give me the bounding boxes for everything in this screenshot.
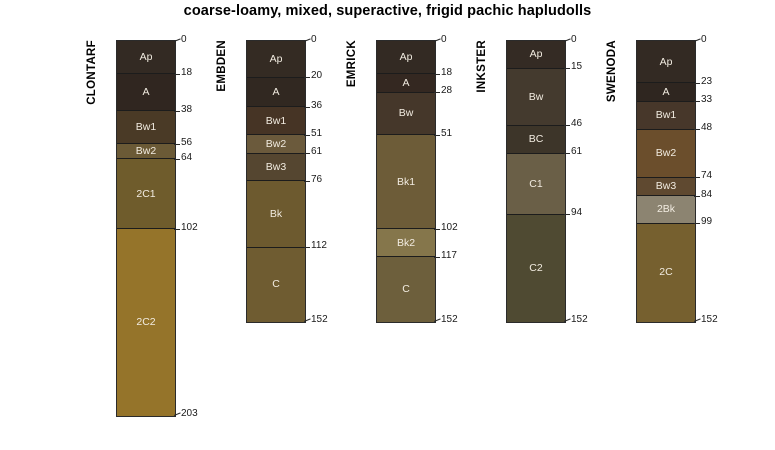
tick-mark bbox=[434, 74, 440, 75]
horizon-label: A bbox=[377, 78, 435, 89]
tick-mark bbox=[434, 135, 440, 136]
horizon-label: 2Bk bbox=[637, 204, 695, 215]
tick-mark bbox=[174, 159, 180, 160]
tick-mark bbox=[304, 107, 310, 108]
horizon-segment: BC bbox=[507, 126, 565, 154]
depth-value-label: 36 bbox=[311, 101, 322, 111]
tick-mark bbox=[174, 229, 180, 230]
tick-mark bbox=[694, 38, 701, 42]
horizon-label: Bk bbox=[247, 209, 305, 220]
tick-mark bbox=[694, 177, 700, 178]
tick-mark bbox=[304, 247, 310, 248]
tick-mark bbox=[304, 38, 311, 42]
depth-value-label: 112 bbox=[311, 241, 327, 251]
tick-mark bbox=[304, 181, 310, 182]
tick-mark bbox=[174, 111, 180, 112]
tick-mark bbox=[434, 229, 440, 230]
horizon-label: Bw1 bbox=[637, 110, 695, 121]
horizon-column: ApABw1Bw2Bw32Bk2C bbox=[636, 40, 696, 323]
depth-value-label: 99 bbox=[701, 217, 712, 227]
depth-value-label: 18 bbox=[441, 68, 452, 78]
profile-name-label: INKSTER bbox=[476, 40, 494, 93]
horizon-segment: Ap bbox=[377, 41, 435, 74]
horizon-label: 2C1 bbox=[117, 189, 175, 200]
tick-mark bbox=[434, 257, 440, 258]
depth-value-label: 94 bbox=[571, 208, 582, 218]
horizon-segment: Bw1 bbox=[637, 102, 695, 130]
soil-profile-figure: coarse-loamy, mixed, superactive, frigid… bbox=[0, 0, 775, 450]
horizon-segment: Bw bbox=[377, 93, 435, 135]
depth-value-label: 74 bbox=[701, 171, 712, 181]
horizon-segment: A bbox=[117, 74, 175, 111]
depth-value-label: 56 bbox=[181, 138, 192, 148]
horizon-label: Bw2 bbox=[117, 146, 175, 157]
tick-mark bbox=[694, 223, 700, 224]
horizon-label: Bw3 bbox=[637, 181, 695, 192]
tick-mark bbox=[564, 38, 571, 42]
horizon-segment: Bw2 bbox=[117, 144, 175, 159]
depth-value-label: 23 bbox=[701, 77, 712, 87]
depth-value-label: 152 bbox=[701, 315, 718, 325]
horizon-segment: Bk1 bbox=[377, 135, 435, 229]
horizon-segment: Bw2 bbox=[247, 135, 305, 153]
horizon-segment: Bw1 bbox=[117, 111, 175, 144]
horizon-segment: Ap bbox=[637, 41, 695, 83]
tick-mark bbox=[564, 153, 570, 154]
horizon-label: Ap bbox=[377, 52, 435, 63]
tick-mark bbox=[174, 74, 180, 75]
horizon-label: Ap bbox=[117, 52, 175, 63]
depth-value-label: 33 bbox=[701, 95, 712, 105]
depth-value-label: 48 bbox=[701, 123, 712, 133]
horizon-label: A bbox=[637, 87, 695, 98]
horizon-segment: Bw1 bbox=[247, 107, 305, 135]
horizon-segment: Bw bbox=[507, 69, 565, 126]
tick-mark bbox=[174, 38, 181, 42]
horizon-label: Ap bbox=[637, 57, 695, 68]
depth-value-label: 61 bbox=[311, 147, 322, 157]
tick-mark bbox=[304, 153, 310, 154]
profile-name-label: SWENODA bbox=[606, 40, 624, 102]
horizon-segment: Bw3 bbox=[247, 154, 305, 182]
tick-mark bbox=[434, 38, 441, 42]
horizon-segment: C bbox=[247, 248, 305, 322]
depth-value-label: 18 bbox=[181, 68, 192, 78]
horizon-segment: Ap bbox=[117, 41, 175, 74]
tick-mark bbox=[564, 214, 570, 215]
tick-mark bbox=[174, 144, 180, 145]
horizon-label: Bw1 bbox=[117, 122, 175, 133]
depth-value-label: 28 bbox=[441, 86, 452, 96]
horizon-segment: Bw2 bbox=[637, 130, 695, 178]
depth-value-label: 0 bbox=[571, 35, 577, 45]
horizon-segment: Bk2 bbox=[377, 229, 435, 257]
horizon-segment: Ap bbox=[247, 41, 305, 78]
horizon-label: C bbox=[247, 279, 305, 290]
horizon-label: Bw bbox=[507, 92, 565, 103]
horizon-segment: C bbox=[377, 257, 435, 322]
depth-value-label: 0 bbox=[311, 35, 317, 45]
depth-value-label: 0 bbox=[701, 35, 707, 45]
horizon-label: 2C2 bbox=[117, 317, 175, 328]
depth-value-label: 38 bbox=[181, 105, 192, 115]
tick-mark bbox=[694, 129, 700, 130]
horizon-label: C1 bbox=[507, 179, 565, 190]
depth-value-label: 117 bbox=[441, 251, 457, 261]
page-title: coarse-loamy, mixed, superactive, frigid… bbox=[0, 3, 775, 19]
horizon-column: ApBwBCC1C2 bbox=[506, 40, 566, 323]
horizon-segment: 2C2 bbox=[117, 229, 175, 416]
depth-value-label: 20 bbox=[311, 71, 322, 81]
depth-value-label: 46 bbox=[571, 119, 582, 129]
depth-value-label: 102 bbox=[441, 223, 458, 233]
horizon-segment: Bk bbox=[247, 181, 305, 247]
depth-value-label: 203 bbox=[181, 409, 198, 419]
horizon-label: A bbox=[247, 87, 305, 98]
tick-mark bbox=[434, 92, 440, 93]
horizon-segment: C1 bbox=[507, 154, 565, 215]
depth-value-label: 15 bbox=[571, 62, 582, 72]
horizon-label: Bw2 bbox=[637, 148, 695, 159]
depth-value-label: 0 bbox=[181, 35, 187, 45]
horizon-label: C bbox=[377, 284, 435, 295]
tick-mark bbox=[694, 101, 700, 102]
horizon-segment: Bw3 bbox=[637, 178, 695, 196]
depth-value-label: 152 bbox=[441, 315, 458, 325]
depth-value-label: 84 bbox=[701, 190, 712, 200]
horizon-segment: 2Bk bbox=[637, 196, 695, 224]
depth-value-label: 152 bbox=[571, 315, 588, 325]
tick-mark bbox=[304, 135, 310, 136]
horizon-segment: A bbox=[637, 83, 695, 101]
horizon-label: 2C bbox=[637, 267, 695, 278]
tick-mark bbox=[694, 196, 700, 197]
depth-value-label: 102 bbox=[181, 223, 198, 233]
horizon-label: A bbox=[117, 87, 175, 98]
horizon-label: Bw bbox=[377, 108, 435, 119]
horizon-segment: A bbox=[247, 78, 305, 108]
profile-name-label: EMBDEN bbox=[216, 40, 234, 92]
depth-value-label: 61 bbox=[571, 147, 582, 157]
horizon-segment: 2C1 bbox=[117, 159, 175, 229]
horizon-column: ApABw1Bw2Bw3BkC bbox=[246, 40, 306, 323]
horizon-segment: C2 bbox=[507, 215, 565, 322]
depth-value-label: 0 bbox=[441, 35, 447, 45]
horizon-label: Bw3 bbox=[247, 162, 305, 173]
horizon-label: Ap bbox=[247, 54, 305, 65]
horizon-label: BC bbox=[507, 134, 565, 145]
horizon-segment: A bbox=[377, 74, 435, 92]
depth-value-label: 51 bbox=[311, 129, 322, 139]
depth-value-label: 51 bbox=[441, 129, 452, 139]
horizon-segment: Ap bbox=[507, 41, 565, 69]
tick-mark bbox=[304, 77, 310, 78]
horizon-segment: 2C bbox=[637, 224, 695, 322]
horizon-label: Bw2 bbox=[247, 139, 305, 150]
depth-value-label: 64 bbox=[181, 153, 192, 163]
tick-mark bbox=[564, 68, 570, 69]
depth-value-label: 152 bbox=[311, 315, 328, 325]
horizon-label: C2 bbox=[507, 263, 565, 274]
tick-mark bbox=[564, 125, 570, 126]
horizon-label: Bw1 bbox=[247, 116, 305, 127]
horizon-column: ApABwBk1Bk2C bbox=[376, 40, 436, 323]
horizon-column: ApABw1Bw22C12C2 bbox=[116, 40, 176, 417]
profile-name-label: EMRICK bbox=[346, 40, 364, 87]
depth-value-label: 76 bbox=[311, 175, 322, 185]
profile-name-label: CLONTARF bbox=[86, 40, 104, 105]
horizon-label: Bk2 bbox=[377, 238, 435, 249]
horizon-label: Ap bbox=[507, 49, 565, 60]
horizon-label: Bk1 bbox=[377, 177, 435, 188]
tick-mark bbox=[694, 83, 700, 84]
